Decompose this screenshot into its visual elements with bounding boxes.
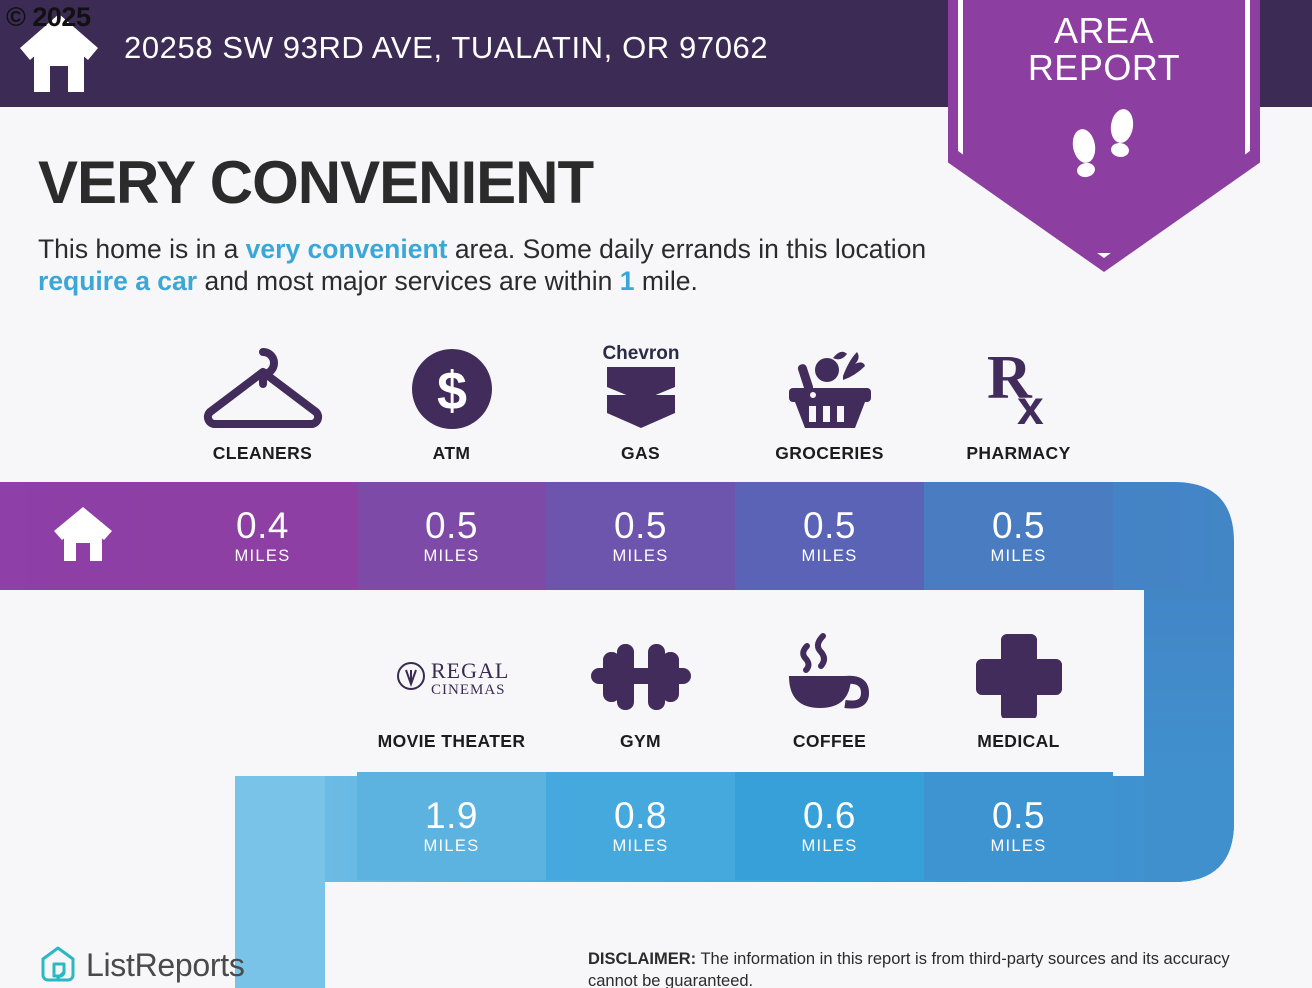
copyright-watermark: © 2025 <box>6 2 90 33</box>
subtitle-highlight1: very convenient <box>246 234 448 264</box>
amenity-label: COFFEE <box>793 731 866 752</box>
badge-title-line1: AREA <box>948 12 1260 49</box>
distance-unit: MILES <box>423 547 479 566</box>
amenity-cleaners: CLEANERS <box>168 340 357 464</box>
distance-row-1: 0.4 MILES 0.5 MILES 0.5 MILES 0.5 MILES … <box>168 482 1113 590</box>
badge-title-line2: REPORT <box>948 49 1260 86</box>
svg-text:x: x <box>1017 382 1044 430</box>
distance-unit: MILES <box>612 547 668 566</box>
listreports-house-tag-icon <box>40 945 76 985</box>
rx-icon: R x <box>971 340 1067 430</box>
distance-value: 1.9 <box>425 797 478 835</box>
subtitle-highlight3: 1 <box>620 266 635 296</box>
distance-unit: MILES <box>801 837 857 856</box>
distance-cell: 0.4 MILES <box>168 482 357 590</box>
page-title: VERY CONVENIENT <box>38 148 593 217</box>
subtitle-part4: mile. <box>635 266 698 296</box>
amenity-gym: GYM <box>546 628 735 752</box>
hanger-icon <box>198 340 328 430</box>
svg-text:REGAL: REGAL <box>431 658 509 683</box>
distance-value: 0.5 <box>614 507 667 545</box>
distance-cell: 0.5 MILES <box>924 482 1113 590</box>
distance-cell: 0.6 MILES <box>735 772 924 880</box>
subtitle-highlight2: require a car <box>38 266 197 296</box>
listreports-logo-text: ListReports <box>86 947 245 984</box>
coffee-cup-icon <box>775 628 885 718</box>
amenity-movie-theater: REGAL CINEMAS MOVIE THEATER <box>357 628 546 752</box>
svg-text:Chevron: Chevron <box>602 343 679 364</box>
subtitle-part2: area. Some daily errands in this locatio… <box>447 234 926 264</box>
area-report-infographic: © 2025 20258 SW 93RD AVE, TUALATIN, OR 9… <box>0 0 1312 988</box>
amenity-label: GAS <box>621 443 660 464</box>
distance-cell: 0.5 MILES <box>357 482 546 590</box>
listreports-logo[interactable]: ListReports <box>40 945 245 985</box>
amenity-label: PHARMACY <box>966 443 1070 464</box>
dumbbell-icon <box>581 628 701 718</box>
dollar-coin-icon: $ <box>408 340 496 430</box>
amenity-icon-row-2: REGAL CINEMAS MOVIE THEATER GYM <box>357 628 1113 752</box>
distance-unit: MILES <box>234 547 290 566</box>
amenity-label: MOVIE THEATER <box>378 731 526 752</box>
amenity-label: ATM <box>433 443 471 464</box>
distance-row-2: 1.9 MILES 0.8 MILES 0.6 MILES 0.5 MILES <box>357 772 1113 880</box>
medical-cross-icon <box>972 628 1066 718</box>
distance-value: 0.8 <box>614 797 667 835</box>
distance-unit: MILES <box>612 837 668 856</box>
amenity-medical: MEDICAL <box>924 628 1113 752</box>
amenity-label: GROCERIES <box>775 443 884 464</box>
amenity-label: MEDICAL <box>977 731 1060 752</box>
distance-cell: 0.5 MILES <box>546 482 735 590</box>
distance-cell: 0.8 MILES <box>546 772 735 880</box>
distance-unit: MILES <box>801 547 857 566</box>
amenity-icon-row-1: CLEANERS $ ATM Chevron GAS <box>168 340 1113 464</box>
distance-value: 0.5 <box>425 507 478 545</box>
distance-cell: 0.5 MILES <box>735 482 924 590</box>
distance-value: 0.5 <box>992 797 1045 835</box>
distance-unit: MILES <box>990 837 1046 856</box>
distance-cell: 0.5 MILES <box>924 772 1113 880</box>
chevron-gas-icon: Chevron <box>591 340 691 430</box>
amenity-pharmacy: R x PHARMACY <box>924 340 1113 464</box>
svg-text:CINEMAS: CINEMAS <box>431 682 506 698</box>
subtitle-part1: This home is in a <box>38 234 246 264</box>
distance-value: 0.6 <box>803 797 856 835</box>
subtitle-part3: and most major services are within <box>197 266 620 296</box>
distance-value: 0.4 <box>236 507 289 545</box>
amenity-label: CLEANERS <box>213 443 312 464</box>
badge-title: AREA REPORT <box>948 12 1260 86</box>
distance-unit: MILES <box>423 837 479 856</box>
footprints-icon <box>1056 104 1152 190</box>
basket-icon <box>775 340 885 430</box>
distance-value: 0.5 <box>803 507 856 545</box>
area-report-badge: AREA REPORT <box>948 0 1260 272</box>
amenity-atm: $ ATM <box>357 340 546 464</box>
amenity-gas: Chevron GAS <box>546 340 735 464</box>
regal-cinemas-icon: REGAL CINEMAS <box>387 628 517 718</box>
distance-value: 0.5 <box>992 507 1045 545</box>
distance-cell: 1.9 MILES <box>357 772 546 880</box>
amenity-label: GYM <box>620 731 661 752</box>
amenity-groceries: GROCERIES <box>735 340 924 464</box>
distance-unit: MILES <box>990 547 1046 566</box>
disclaimer-label: DISCLAIMER: <box>588 950 696 968</box>
home-marker-icon <box>52 505 114 563</box>
disclaimer: DISCLAIMER: The information in this repo… <box>588 948 1278 988</box>
amenity-coffee: COFFEE <box>735 628 924 752</box>
page-subtitle: This home is in a very convenient area. … <box>38 233 938 297</box>
property-address: 20258 SW 93RD AVE, TUALATIN, OR 97062 <box>124 30 768 66</box>
svg-text:$: $ <box>436 361 466 421</box>
